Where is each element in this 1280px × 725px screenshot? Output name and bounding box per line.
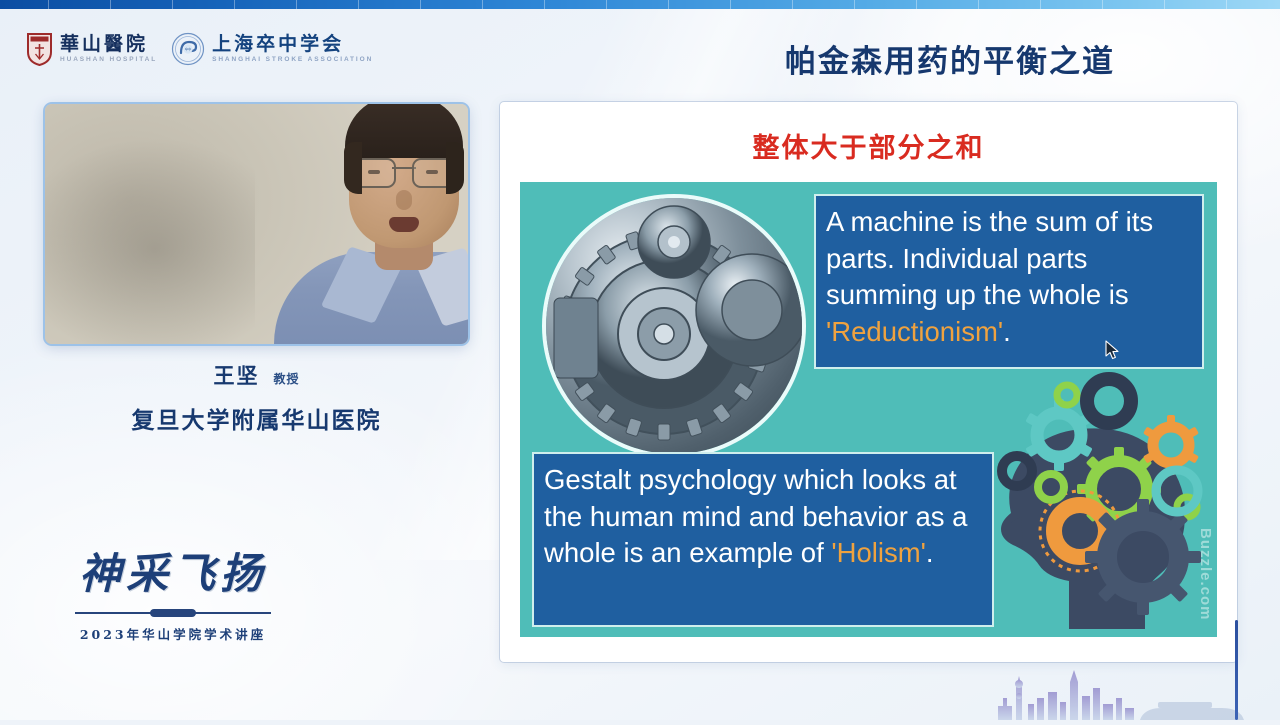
quote2-tail: . [926,537,934,568]
brand-divider [75,609,271,617]
shanghai-skyline-decoration [962,658,1252,720]
quote1-highlight: 'Reductionism' [826,316,1003,347]
slide-right-edge-marker [1235,620,1238,720]
page-title: 帕金森用药的平衡之道 [640,36,1260,81]
quote2-highlight: 'Holism' [831,537,926,568]
logo-huashan-hospital: 華山醫院 HUASHAN HOSPITAL [26,32,157,66]
speaker-name: 王坚 [213,360,259,390]
speaker-info: 王坚 教授 复旦大学附属华山医院 [45,360,468,435]
event-brand-mark: 神采飞扬 2023年华山学院学术讲座 [58,540,288,643]
huashan-logo-en-text: HUASHAN HOSPITAL [60,57,157,64]
speaker-role: 教授 [273,370,299,387]
stroke-assoc-logo-cn-text: 上海卒中学会 [212,35,373,54]
head-with-gears-illustration [959,367,1207,629]
speaker-organization: 复旦大学附属华山医院 [45,401,468,435]
video-wall-shadow [45,134,255,344]
speaker-video-feed[interactable] [45,104,468,344]
quote-reductionism: A machine is the sum of its parts. Indiv… [814,194,1204,369]
brand-calligraphy-title: 神采飞扬 [58,540,288,601]
metal-gears-photo [546,198,802,454]
logo-shanghai-stroke-association: 卒中 上海卒中学会 SHANGHAI STROKE ASSOCIATION [171,32,373,66]
stroke-association-seal-icon: 卒中 [171,32,205,66]
mouse-cursor [1105,340,1121,362]
brand-subtitle: 2023年华山学院学术讲座 [58,624,288,643]
speaker-figure [254,129,469,344]
quote1-tail: . [1003,316,1011,347]
svg-text:卒中: 卒中 [185,47,191,52]
stroke-assoc-logo-en-text: SHANGHAI STROKE ASSOCIATION [212,57,373,64]
quote1-text: A machine is the sum of its parts. Indiv… [826,206,1153,310]
slide-title: 整体大于部分之和 [500,126,1237,165]
header-logos: 華山醫院 HUASHAN HOSPITAL 卒中 上海卒中学会 SHANGHAI… [26,27,373,71]
huashan-shield-icon [26,32,53,66]
presentation-slide[interactable]: 整体大于部分之和 [500,102,1237,662]
poster-watermark: Buzzle.com [1197,528,1214,621]
huashan-logo-cn-text: 華山醫院 [60,35,157,54]
quote-holism: Gestalt psychology which looks at the hu… [532,452,994,627]
top-accent-bar [0,0,1280,9]
poster-graphic: A machine is the sum of its parts. Indiv… [520,182,1217,637]
